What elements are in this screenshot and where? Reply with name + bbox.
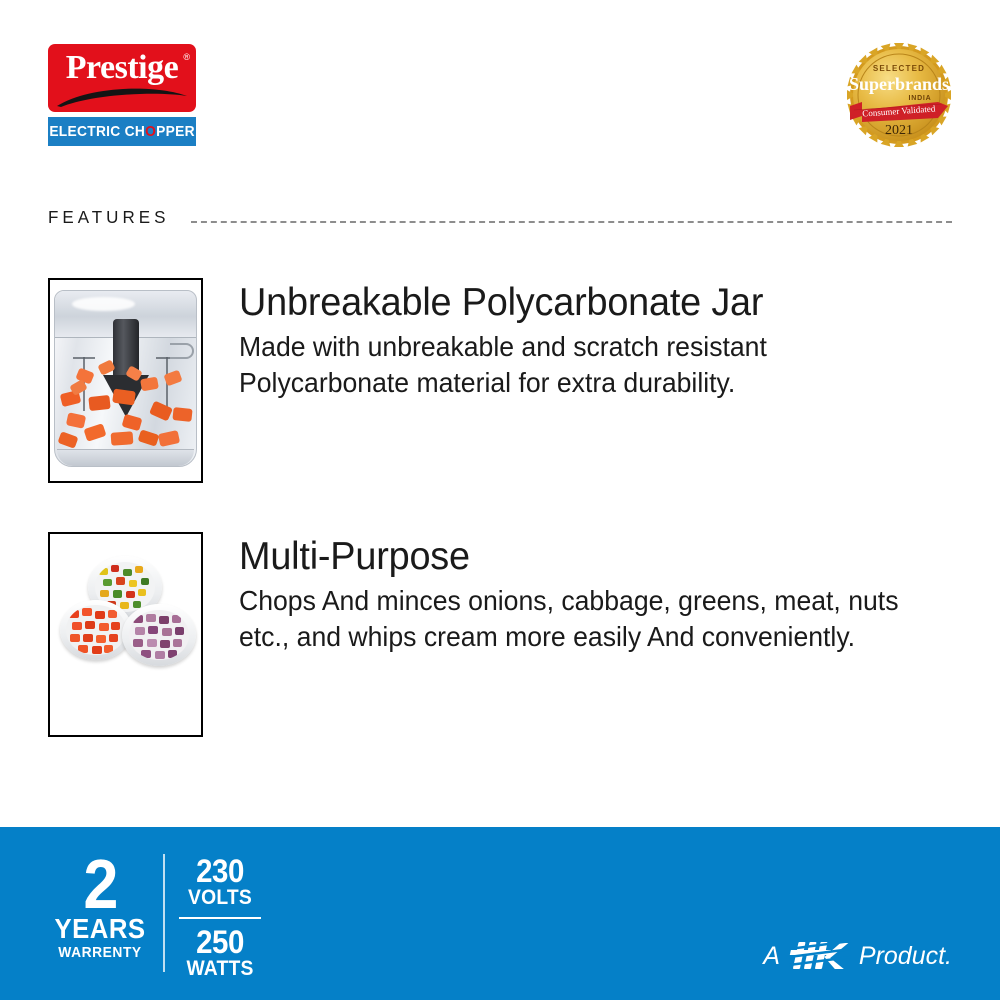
brand-swoosh-icon (55, 82, 189, 108)
feature-text-block: Multi-Purpose Chops And minces onions, c… (239, 532, 952, 655)
header: Prestige ® ELECTRIC CHOPPER (0, 0, 1000, 190)
spec-voltage-value: 230 (179, 855, 262, 887)
bowl-chopped-tomatoes (60, 600, 132, 660)
features-dashed-rule (191, 221, 952, 223)
spec-wattage-value: 250 (179, 926, 262, 958)
svg-text:INDIA: INDIA (908, 95, 931, 102)
feature-thumbnail-chopped-vegetable-bowls (48, 532, 203, 737)
spec-voltage: 230 VOLTS (175, 855, 265, 909)
feature-item: Multi-Purpose Chops And minces onions, c… (48, 532, 952, 737)
features-heading-row: FEATURES (48, 208, 952, 228)
credit-prefix: A (763, 942, 780, 971)
spec-voltage-unit: VOLTS (179, 887, 262, 909)
warranty-number: 2 (46, 851, 154, 917)
product-line-highlight: O (145, 123, 156, 140)
ttk-logo-icon (789, 940, 851, 972)
product-feature-page: Prestige ® ELECTRIC CHOPPER (0, 0, 1000, 1000)
specs-divider (179, 917, 261, 919)
feature-thumbnail-chopper-jar (48, 278, 203, 483)
superbrands-badge: SELECTED Superbrands INDIA Consumer Vali… (846, 42, 952, 148)
specs-block: 230 VOLTS 250 WATTS (175, 855, 265, 980)
product-line-prefix: ELECTRIC CH (49, 123, 145, 140)
svg-text:Superbrands: Superbrands (849, 74, 949, 94)
footer-vertical-divider (163, 854, 165, 972)
brand-logo: Prestige ® ELECTRIC CHOPPER (48, 44, 196, 146)
feature-title: Multi-Purpose (239, 534, 931, 580)
feature-title: Unbreakable Polycarbonate Jar (239, 280, 931, 326)
feature-description: Chops And minces onions, cabbage, greens… (239, 583, 916, 655)
superbrands-seal-icon: SELECTED Superbrands INDIA Consumer Vali… (846, 42, 952, 148)
warranty-block: 2 YEARS WARRENTY (40, 851, 160, 961)
svg-text:2021: 2021 (885, 123, 913, 138)
ttk-credit: A Product. (763, 940, 952, 972)
product-line-suffix: PPER (156, 123, 195, 140)
feature-description: Made with unbreakable and scratch resist… (239, 329, 916, 401)
brand-product-line-label: ELECTRIC CHOPPER (49, 123, 195, 140)
spec-wattage: 250 WATTS (175, 926, 265, 980)
feature-item: Unbreakable Polycarbonate Jar Made with … (48, 278, 952, 483)
bowl-diced-onion (122, 604, 196, 666)
footer-bar: 2 YEARS WARRENTY 230 VOLTS 250 WATTS A (0, 827, 1000, 1000)
warranty-word-label: WARRENTY (45, 944, 155, 961)
registered-trademark-icon: ® (183, 53, 190, 62)
warranty-years-label: YEARS (45, 915, 155, 943)
chopped-carrots (55, 348, 196, 456)
features-label: FEATURES (48, 208, 169, 229)
spec-wattage-unit: WATTS (179, 958, 262, 980)
svg-text:SELECTED: SELECTED (873, 64, 925, 73)
brand-product-line: ELECTRIC CHOPPER (48, 117, 196, 146)
brand-logo-red-box: Prestige ® (48, 44, 196, 112)
feature-text-block: Unbreakable Polycarbonate Jar Made with … (239, 278, 952, 401)
credit-suffix: Product. (859, 942, 952, 971)
